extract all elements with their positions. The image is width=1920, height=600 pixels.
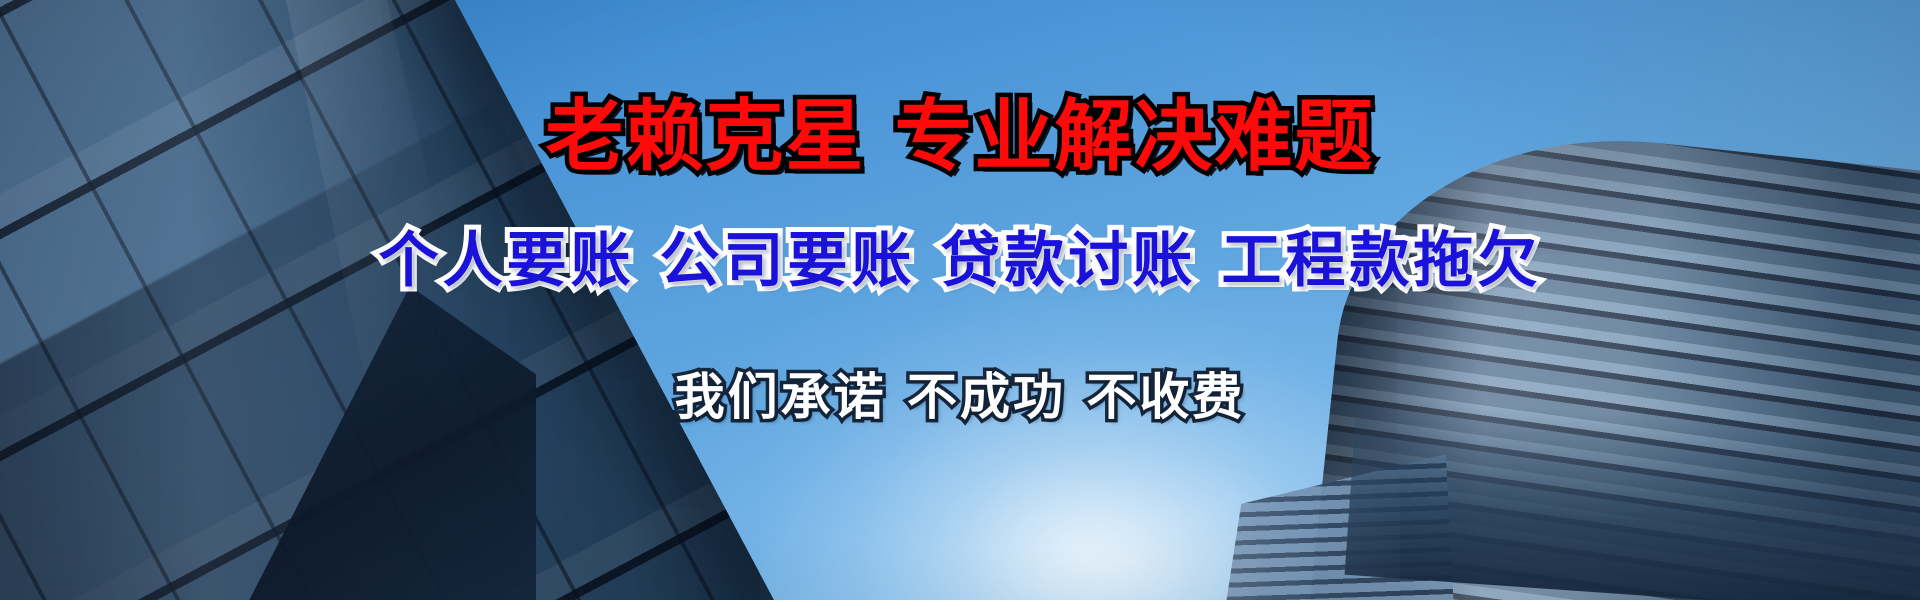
promotional-banner: 老赖克星 专业解决难题 个人要账 公司要账 贷款讨账 工程款拖欠 我们承诺 不成… [0, 0, 1920, 600]
background-photo [0, 0, 1920, 600]
